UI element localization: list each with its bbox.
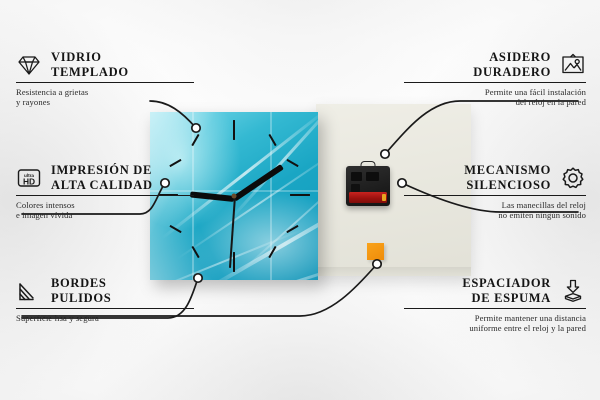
svg-text:HD: HD [23,176,35,186]
feature-impresion-alta-calidad: ultra HD IMPRESIÓN DE ALTA CALIDAD Color… [16,163,194,221]
feature-vidrio-templado: VIDRIO TEMPLADO Resistencia a grietas y … [16,50,194,108]
feature-divider [404,195,586,196]
feature-title-line2: ALTA CALIDAD [51,178,153,193]
feature-title-line2: DURADERO [473,65,551,80]
feature-espaciador-de-espuma: ESPACIADOR DE ESPUMA Permite mantener un… [404,276,586,334]
feature-divider [404,308,586,309]
feature-bordes-pulidos: BORDES PULIDOS Superficie lisa y segura [16,276,194,323]
feature-desc-line1: Las manecillas del reloj [404,200,586,211]
connector-asidero-dot [381,150,389,158]
feature-description: Colores intensos e imagen vívida [16,200,194,221]
feature-desc-line2: y rayones [16,97,194,108]
feature-description: Superficie lisa y segura [16,313,194,324]
feature-description: Permite mantener una distancia uniforme … [404,313,586,334]
feature-desc-line1: Superficie lisa y segura [16,313,194,324]
line-asidero [385,101,578,154]
feature-title-line2: TEMPLADO [51,65,129,80]
feature-title-line1: MECANISMO [464,163,551,178]
feature-description: Las manecillas del reloj no emiten ningú… [404,200,586,221]
feature-desc-line2: uniforme entre el reloj y la pared [404,323,586,334]
feature-desc-line2: no emiten ningún sonido [404,210,586,221]
feature-desc-line1: Colores intensos [16,200,194,211]
feature-desc-line2: e imagen vívida [16,210,194,221]
clock-center-hub [232,194,237,199]
feature-desc-line1: Permite mantener una distancia [404,313,586,324]
feature-desc-line2: del reloj en la pared [404,97,586,108]
feature-divider [404,82,586,83]
polished-edges-icon [16,278,42,304]
feature-title-line1: VIDRIO [51,50,129,65]
foam-spacer-arrow-icon [560,278,586,304]
connector-vidrio-dot [192,124,200,132]
feature-divider [16,308,194,309]
feature-title-line1: IMPRESIÓN DE [51,163,153,178]
feature-mecanismo-silencioso: MECANISMO SILENCIOSO Las manecillas del … [404,163,586,221]
feature-title-line1: ASIDERO [473,50,551,65]
feature-divider [16,195,194,196]
picture-hanger-icon [560,52,586,78]
feature-divider [16,82,194,83]
feature-asidero-duradero: ASIDERO DURADERO Permite una fácil insta… [404,50,586,108]
feature-description: Resistencia a grietas y rayones [16,87,194,108]
infographic-canvas: VIDRIO TEMPLADO Resistencia a grietas y … [0,0,600,400]
feature-title-line2: SILENCIOSO [464,178,551,193]
feature-desc-line1: Permite una fácil instalación [404,87,586,98]
connector-espaciador-dot [373,260,381,268]
connector-bordes-dot [194,274,202,282]
feature-title-line1: ESPACIADOR [462,276,551,291]
feature-title-line1: BORDES [51,276,111,291]
feature-description: Permite una fácil instalación del reloj … [404,87,586,108]
ultra-hd-badge-icon: ultra HD [16,165,42,191]
feature-desc-line1: Resistencia a grietas [16,87,194,98]
feature-title-line2: DE ESPUMA [462,291,551,306]
gear-icon [560,165,586,191]
diamond-icon [16,52,42,78]
feature-title-line2: PULIDOS [51,291,111,306]
